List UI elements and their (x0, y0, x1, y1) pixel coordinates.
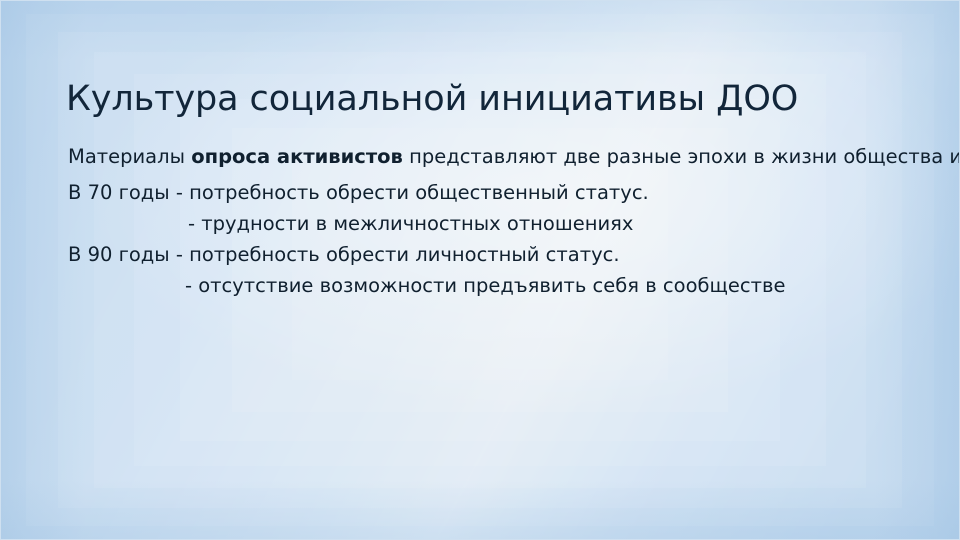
intro-tail-text: представляют две разные эпохи в жизни об… (403, 145, 960, 168)
body-paragraph-intro: Материалы опроса активистов представляют… (68, 141, 914, 172)
body-paragraph-90s: В 90 годы - потребность обрести личностн… (68, 245, 914, 265)
body-paragraph-70s-detail: - трудности в межличностных отношениях (68, 214, 914, 234)
intro-lead-text: Материалы (68, 145, 191, 168)
body-paragraph-90s-detail: - отсутствие возможности предъявить себя… (68, 276, 914, 296)
body-paragraph-70s: В 70 годы - потребность обрести обществе… (68, 183, 914, 203)
slide-content: Культура социальной инициативы ДОО Матер… (0, 0, 960, 540)
slide-title: Культура социальной инициативы ДОО (66, 77, 906, 121)
intro-emphasis-text: опроса активистов (191, 145, 403, 168)
slide-body: Материалы опроса активистов представляют… (68, 141, 914, 296)
presentation-slide: Культура социальной инициативы ДОО Матер… (0, 0, 960, 540)
